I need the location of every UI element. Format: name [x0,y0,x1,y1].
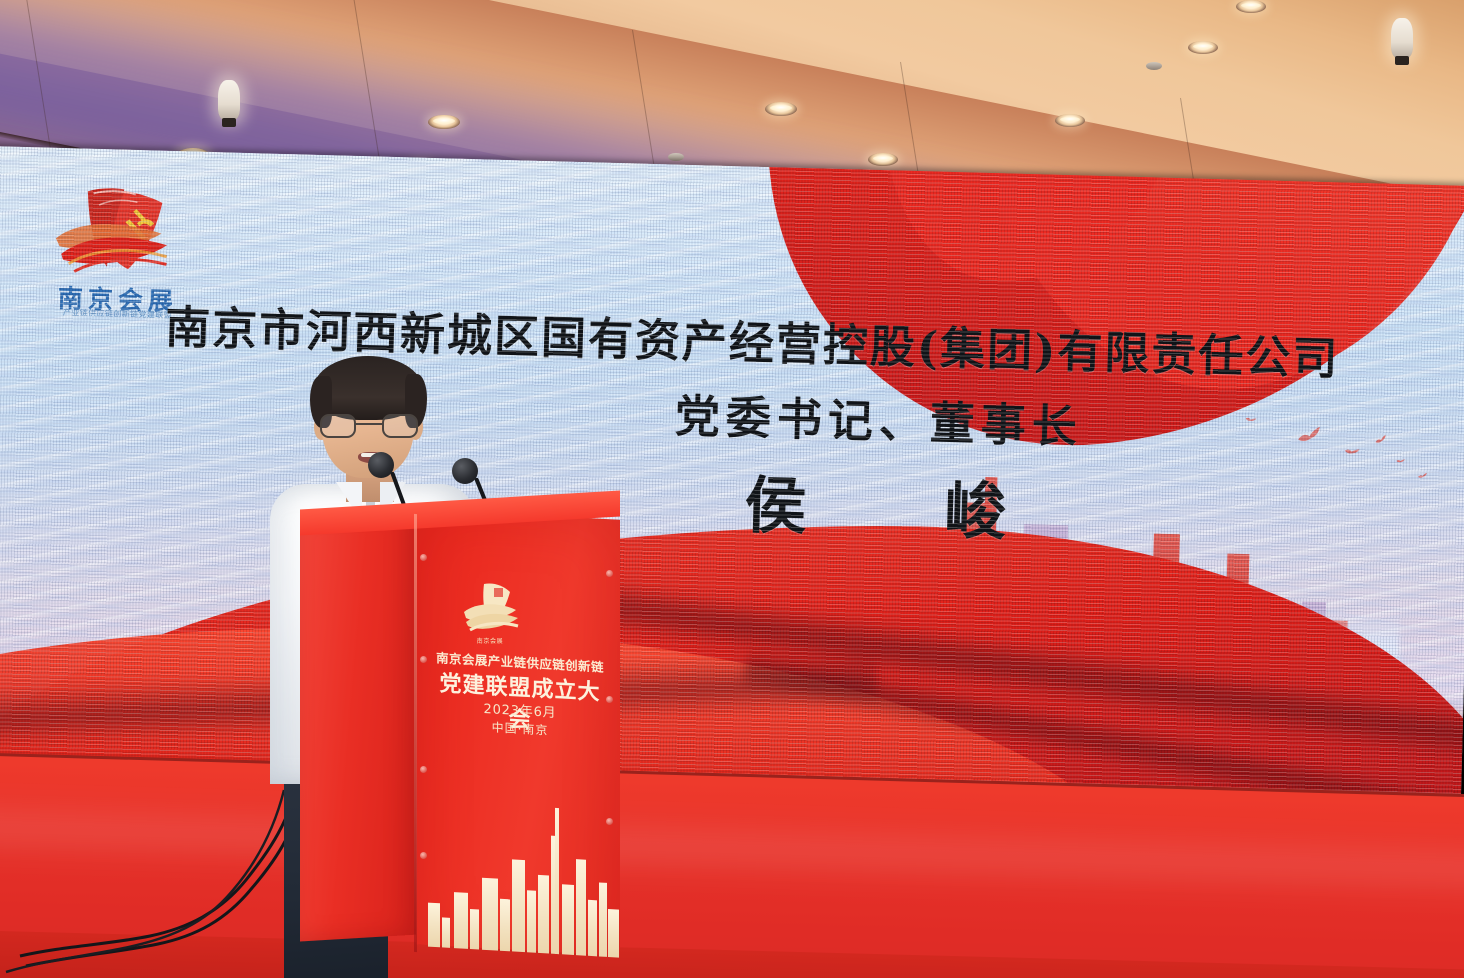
podium-left-face [300,504,418,941]
podium-logo-name: 南京会展 [450,636,530,645]
spotlight-icon [1055,114,1085,127]
podium-building [599,882,607,956]
spotlight-icon [1188,41,1218,54]
dove-icon [1343,445,1360,459]
dove-icon [1417,472,1427,479]
podium-building [512,859,525,952]
podium-corner-edge [414,514,417,952]
spotlight-glow [873,156,893,162]
podium-building [442,917,450,947]
podium-building [500,899,510,952]
spotlight-glow [433,118,455,124]
podium-building [538,875,549,954]
speaker-hair [314,356,422,420]
party-flag-logo-icon [52,185,170,280]
podium-building [527,890,536,953]
spotlight-icon [765,102,797,116]
dove-icon [1374,434,1389,446]
spotlight-glow [1193,44,1213,50]
spotlight-glow [1241,3,1261,9]
podium-fastener [420,554,427,561]
podium-fastener [420,766,427,773]
podium-building [588,900,597,957]
hanging-light-fixture-icon [218,80,240,120]
podium-building [562,884,574,955]
eyeglasses-icon [320,414,418,438]
podium-fastener [420,656,427,663]
lens-right [382,414,418,438]
led-backdrop-screen: 南京会展 产业链供应链创新链党建联盟 南京市河西新城区国有资产经营控股(集团)有… [0,146,1464,846]
podium-building [576,859,586,956]
led-screen-surface: 南京会展 产业链供应链创新链党建联盟 南京市河西新城区国有资产经营控股(集团)有… [0,146,1464,846]
podium-building [470,909,479,950]
podium-skyline-graphic [424,794,620,957]
spotlight-icon [428,115,460,129]
podium-building [454,892,468,949]
hanging-light-fixture-icon [1391,18,1413,58]
headline-speaker-name: 侯 峻 [743,455,1065,554]
smoke-detector-icon [668,153,684,161]
podium-fastener [606,570,613,577]
glasses-bridge [356,423,382,425]
dove-icon [1244,414,1257,425]
dove-icon [1295,426,1324,448]
spotlight-glow [770,105,792,111]
podium-building [482,878,498,951]
podium-building [555,808,559,954]
event-photo-scene: 南京会展 产业链供应链创新链党建联盟 南京市河西新城区国有资产经营控股(集团)有… [0,0,1464,978]
spotlight-glow [1060,117,1080,123]
smoke-detector-icon [1146,62,1162,70]
spotlight-icon [1236,0,1266,13]
lens-left [320,414,356,438]
podium-building [428,903,440,948]
headline-title-line: 党委书记、董事长 [674,380,1084,456]
podium-building [608,909,619,958]
speaking-podium: 南京会展 南京会展产业链供应链创新链 党建联盟成立大会 2023年6月 中国·南… [300,500,620,960]
dove-icon [1396,458,1406,465]
spotlight-icon [868,153,898,166]
podium-logo-icon [460,582,520,640]
